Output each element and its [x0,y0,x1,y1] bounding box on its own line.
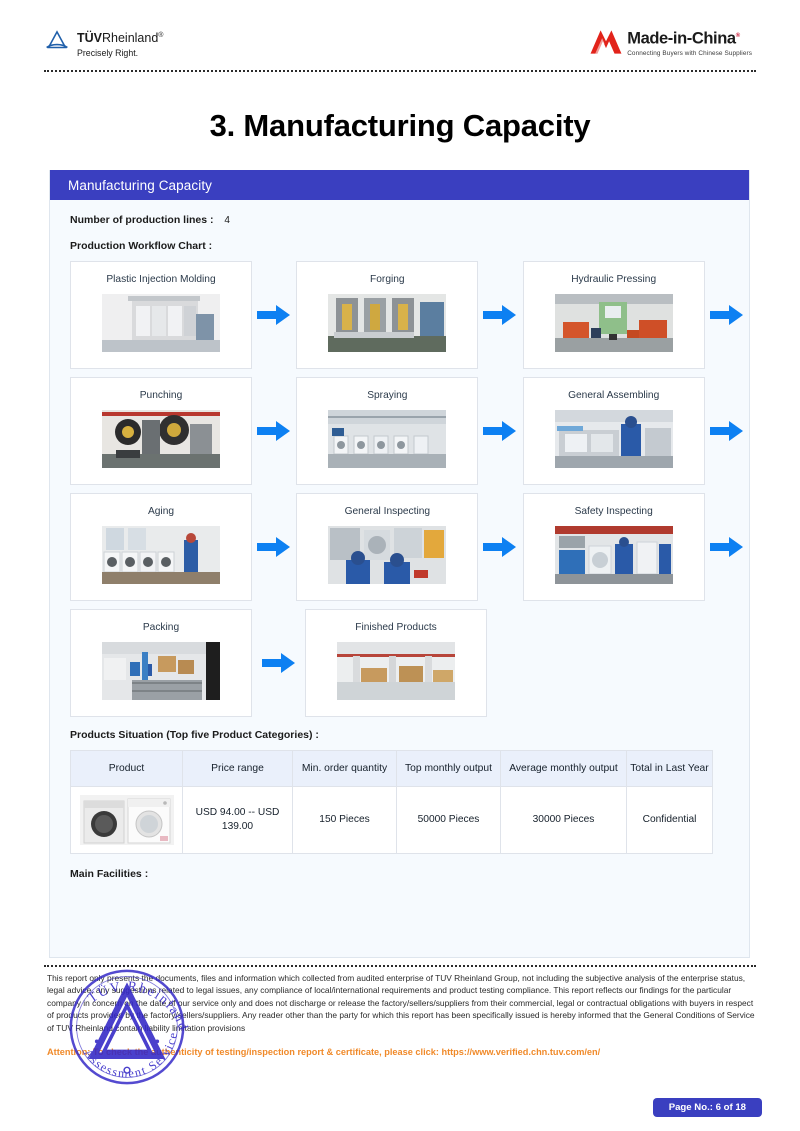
workflow-row: AgingGeneral InspectingSafety Inspecting [70,493,749,601]
page-number-badge: Page No.: 6 of 18 [653,1098,762,1117]
flow-arrow-right-icon [257,420,291,442]
tuv-wordmark-rest: Rheinland [102,31,158,45]
column-header-average-monthly-output: Average monthly output [501,751,627,787]
workflow-empty-slot [527,609,709,717]
workflow-arrow-slot [705,261,749,369]
workflow-arrow-slot [478,261,522,369]
workflow-step-label: General Assembling [568,390,659,402]
product-image-cell [71,787,183,854]
workflow-row: PunchingSprayingGeneral Assembling [70,377,749,485]
workflow-arrow-slot [252,261,296,369]
workflow-step-label: Safety Inspecting [575,506,653,518]
workflow-step-general-assembling[interactable]: General Assembling [523,377,705,485]
workflow-arrow-slot [487,609,527,717]
min-order-quantity-cell: 150 Pieces [293,787,397,854]
workflow-arrow-slot [705,493,749,601]
forging-photo [328,294,446,352]
made-in-china-wordmark: Made-in-China® [627,28,752,48]
card-header-title: Manufacturing Capacity [68,178,212,193]
general-inspecting-photo [328,526,446,584]
workflow-arrow-slot [478,377,522,485]
workflow-step-label: Punching [140,390,182,402]
packing-photo [102,642,220,700]
workflow-arrow-slot [252,493,296,601]
workflow-step-label: Spraying [367,390,407,402]
workflow-arrow-slot [252,377,296,485]
general-assembling-photo [555,410,673,468]
flow-arrow-right-icon [483,420,517,442]
workflow-step-label: Plastic Injection Molding [106,274,215,286]
made-in-china-logo: Made-in-China® Connecting Buyers with Ch… [589,27,752,58]
price-range-cell: USD 94.00 -- USD 139.00 [183,787,293,854]
workflow-step-safety-inspecting[interactable]: Safety Inspecting [523,493,705,601]
flow-arrow-right-icon [262,652,296,674]
workflow-step-general-inspecting[interactable]: General Inspecting [296,493,478,601]
column-header-top-monthly-output: Top monthly output [397,751,501,787]
table-row: USD 94.00 -- USD 139.00 150 Pieces 50000… [71,787,713,854]
washing-machine-thumbnail [80,795,174,845]
main-facilities-label: Main Facilities : [70,868,749,880]
products-situation-label: Products Situation (Top five Product Cat… [70,729,749,741]
card-header: Manufacturing Capacity [50,170,749,200]
products-situation-table: Product Price range Min. order quantity … [70,750,713,854]
table-header-row: Product Price range Min. order quantity … [71,751,713,787]
workflow-step-label: General Inspecting [345,506,431,518]
tuv-wordmark-bold: TÜV [77,31,102,45]
workflow-row: Plastic Injection MoldingForgingHydrauli… [70,261,749,369]
hydraulic-pressing-photo [555,294,673,352]
flow-arrow-right-icon [710,536,744,558]
production-lines-value: 4 [224,215,230,226]
flow-arrow-right-icon [710,420,744,442]
header-divider [44,70,756,72]
tuv-rheinland-logo: TÜVRheinland® Precisely Right. [44,28,163,59]
workflow-row: PackingFinished Products [70,609,749,717]
made-in-china-name: Made-in-China [627,30,735,48]
workflow-arrow-slot [705,377,749,485]
made-in-china-m-icon [589,27,623,57]
attention-notice: Attention: To check the authenticity of … [47,1047,787,1057]
production-lines-field: Number of production lines : 4 [70,214,749,226]
workflow-step-finished-products[interactable]: Finished Products [305,609,487,717]
plastic-injection-molding-photo [102,294,220,352]
registered-trademark-icon: ® [158,32,163,39]
flow-arrow-right-icon [710,304,744,326]
punching-photo [102,410,220,468]
flow-arrow-right-icon [483,536,517,558]
workflow-step-spraying[interactable]: Spraying [296,377,478,485]
page-header: TÜVRheinland® Precisely Right. Made-in-C… [0,0,800,72]
workflow-arrow-slot [478,493,522,601]
workflow-step-label: Aging [148,506,174,518]
workflow-step-label: Finished Products [355,622,437,634]
card-body: Number of production lines : 4 Productio… [50,200,749,880]
safety-inspecting-photo [555,526,673,584]
total-in-last-year-cell: Confidential [627,787,713,854]
finished-products-photo [337,642,455,700]
workflow-arrow-slot [709,609,749,717]
column-header-total-in-last-year: Total in Last Year [627,751,713,787]
registered-trademark-icon: ® [736,33,740,39]
disclaimer-text: This report only presents the documents,… [47,972,755,1034]
aging-photo [102,526,220,584]
top-monthly-output-cell: 50000 Pieces [397,787,501,854]
workflow-step-forging[interactable]: Forging [296,261,478,369]
flow-arrow-right-icon [483,304,517,326]
tuv-triangle-icon [44,28,70,54]
workflow-step-plastic-injection-molding[interactable]: Plastic Injection Molding [70,261,252,369]
tuv-tagline: Precisely Right. [77,47,163,59]
workflow-step-label: Hydraulic Pressing [571,274,656,286]
spraying-photo [328,410,446,468]
workflow-step-packing[interactable]: Packing [70,609,252,717]
production-workflow-chart: Plastic Injection MoldingForgingHydrauli… [70,261,749,717]
column-header-product: Product [71,751,183,787]
column-header-min-order-quantity: Min. order quantity [293,751,397,787]
production-lines-label: Number of production lines : [70,214,214,226]
footer-divider [44,965,756,967]
made-in-china-tagline: Connecting Buyers with Chinese Suppliers [627,49,752,58]
workflow-step-hydraulic-pressing[interactable]: Hydraulic Pressing [523,261,705,369]
flow-arrow-right-icon [257,304,291,326]
manufacturing-capacity-card: Manufacturing Capacity Number of product… [49,170,750,958]
column-header-price-range: Price range [183,751,293,787]
flow-arrow-right-icon [257,536,291,558]
workflow-arrow-slot [252,609,305,717]
workflow-chart-label: Production Workflow Chart : [70,240,749,252]
workflow-step-aging[interactable]: Aging [70,493,252,601]
workflow-step-punching[interactable]: Punching [70,377,252,485]
tuv-wordmark: TÜVRheinland® [77,29,163,45]
page-title: 3. Manufacturing Capacity [0,108,800,144]
average-monthly-output-cell: 30000 Pieces [501,787,627,854]
workflow-step-label: Forging [370,274,405,286]
workflow-step-label: Packing [143,622,179,634]
